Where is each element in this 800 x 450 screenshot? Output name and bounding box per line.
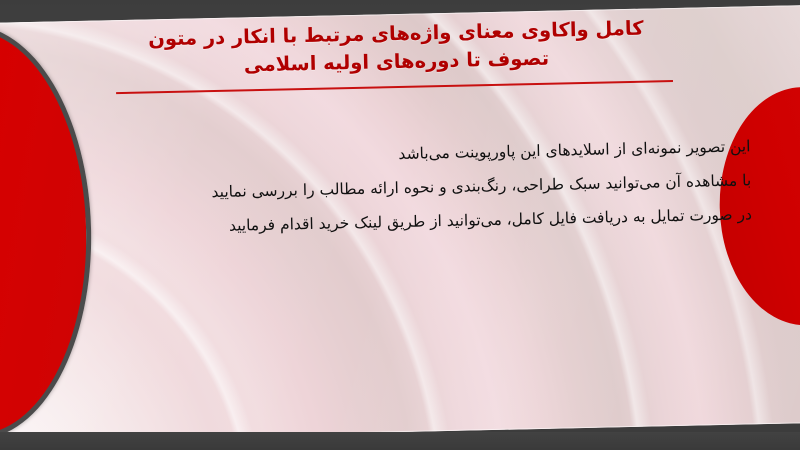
slide-body-text: این تصویر نمونه‌ای از اسلایدهای این پاور… (104, 130, 752, 245)
presentation-slide: کامل واکاوی معنای واژه‌های مرتبط با انکا… (0, 0, 800, 450)
slide-bottom-border (0, 432, 800, 450)
slide-canvas: کامل واکاوی معنای واژه‌های مرتبط با انکا… (0, 5, 800, 441)
